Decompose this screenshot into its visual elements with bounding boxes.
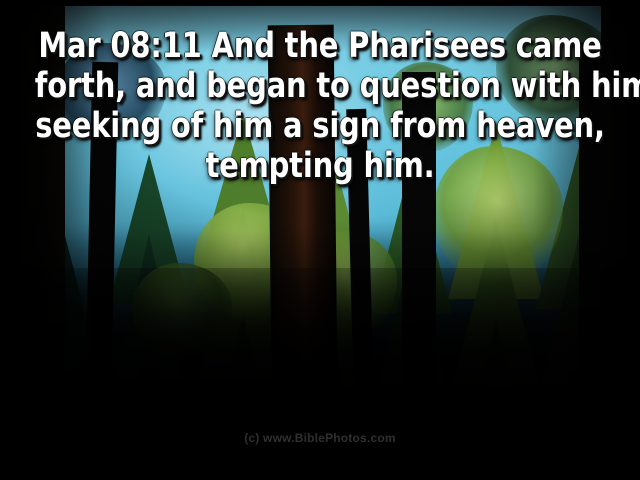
scripture-image: Mar 08:11 And the Pharisees came forth, … xyxy=(0,0,640,480)
verse-text: Mar 08:11 And the Pharisees came forth, … xyxy=(26,26,615,186)
verse-line-1: Mar 08:11 And the Pharisees came xyxy=(35,26,605,66)
verse-line-2: forth, and began to question with him, xyxy=(35,66,605,106)
watermark-text: (c) www.BiblePhotos.com xyxy=(0,431,640,445)
verse-line-3: seeking of him a sign from heaven, xyxy=(35,106,605,146)
verse-line-4: tempting him. xyxy=(35,146,605,186)
